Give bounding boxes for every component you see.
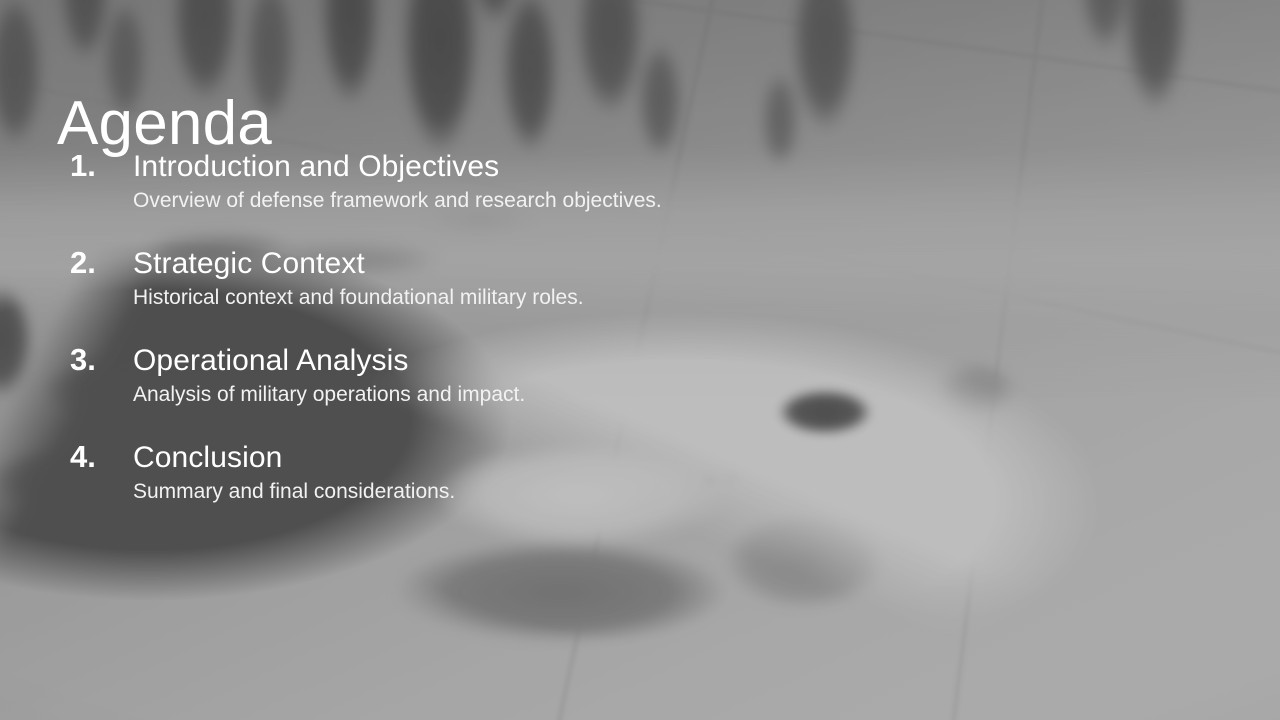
page-title: Agenda	[57, 93, 272, 155]
agenda-item-number: 3.	[57, 341, 133, 379]
agenda-item-body: Conclusion Summary and final considerati…	[133, 438, 1057, 505]
agenda-item-subtext: Historical context and foundational mili…	[133, 285, 1057, 311]
agenda-item-body: Strategic Context Historical context and…	[133, 244, 1057, 311]
agenda-item-1[interactable]: 1. Introduction and Objectives Overview …	[57, 147, 1057, 244]
agenda-item-number: 2.	[57, 244, 133, 282]
agenda-list: 1. Introduction and Objectives Overview …	[57, 147, 1057, 535]
agenda-item-body: Operational Analysis Analysis of militar…	[133, 341, 1057, 408]
presentation-slide: Agenda 1. Introduction and Objectives Ov…	[0, 0, 1280, 720]
agenda-item-subtext: Analysis of military operations and impa…	[133, 382, 1057, 408]
agenda-item-number: 4.	[57, 438, 133, 476]
agenda-item-body: Introduction and Objectives Overview of …	[133, 147, 1057, 214]
slide-content: Agenda 1. Introduction and Objectives Ov…	[0, 0, 1280, 720]
agenda-item-3[interactable]: 3. Operational Analysis Analysis of mili…	[57, 341, 1057, 438]
agenda-item-heading: Strategic Context	[133, 245, 1057, 282]
agenda-item-2[interactable]: 2. Strategic Context Historical context …	[57, 244, 1057, 341]
agenda-item-number: 1.	[57, 147, 133, 185]
agenda-item-heading: Operational Analysis	[133, 342, 1057, 379]
agenda-item-subtext: Summary and final considerations.	[133, 479, 1057, 505]
agenda-item-4[interactable]: 4. Conclusion Summary and final consider…	[57, 438, 1057, 535]
agenda-item-subtext: Overview of defense framework and resear…	[133, 188, 1057, 214]
agenda-item-heading: Conclusion	[133, 439, 1057, 476]
agenda-item-heading: Introduction and Objectives	[133, 148, 1057, 185]
